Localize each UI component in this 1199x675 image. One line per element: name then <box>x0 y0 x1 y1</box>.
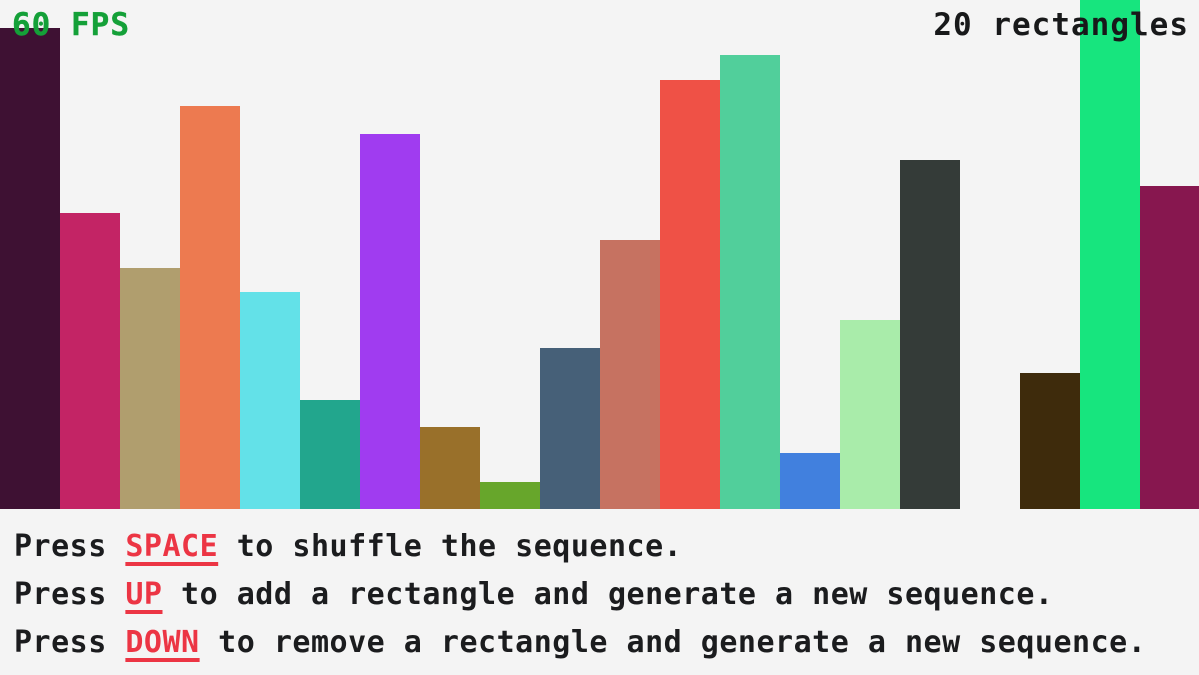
key-hint-down[interactable]: DOWN <box>125 625 199 660</box>
instruction-suffix: to shuffle the sequence. <box>218 529 682 564</box>
bar-16 <box>900 160 960 509</box>
bar-7 <box>360 134 420 509</box>
instruction-line-2: Press UP to add a rectangle and generate… <box>14 571 1199 619</box>
instruction-line-3: Press DOWN to remove a rectangle and gen… <box>14 619 1199 667</box>
instruction-prefix: Press <box>14 625 125 660</box>
rectangle-count-label: 20 rectangles <box>933 8 1189 42</box>
app-canvas: 60 FPS 20 rectangles Press SPACE to shuf… <box>0 0 1199 675</box>
bar-14 <box>780 453 840 509</box>
bar-10 <box>540 348 600 509</box>
bar-13 <box>720 55 780 509</box>
bar-11 <box>600 240 660 509</box>
key-hint-up[interactable]: UP <box>125 577 162 612</box>
bar-4 <box>180 106 240 509</box>
bar-15 <box>840 320 900 509</box>
bar-9 <box>480 482 540 509</box>
bar-1 <box>0 28 60 509</box>
fps-counter: 60 FPS <box>12 8 130 42</box>
instruction-suffix: to remove a rectangle and generate a new… <box>200 625 1147 660</box>
instruction-suffix: to add a rectangle and generate a new se… <box>163 577 1054 612</box>
bar-2 <box>60 213 120 509</box>
bar-chart <box>0 0 1199 509</box>
bar-3 <box>120 268 180 509</box>
instructions-panel: Press SPACE to shuffle the sequence.Pres… <box>0 509 1199 675</box>
bar-19 <box>1080 0 1140 509</box>
bar-6 <box>300 400 360 509</box>
bar-17 <box>1020 373 1080 509</box>
instruction-prefix: Press <box>14 529 125 564</box>
bar-5 <box>240 292 300 509</box>
key-hint-space[interactable]: SPACE <box>125 529 218 564</box>
bar-20 <box>1140 186 1199 509</box>
bar-8 <box>420 427 480 509</box>
instruction-prefix: Press <box>14 577 125 612</box>
instruction-line-1: Press SPACE to shuffle the sequence. <box>14 523 1199 571</box>
bar-12 <box>660 80 720 509</box>
